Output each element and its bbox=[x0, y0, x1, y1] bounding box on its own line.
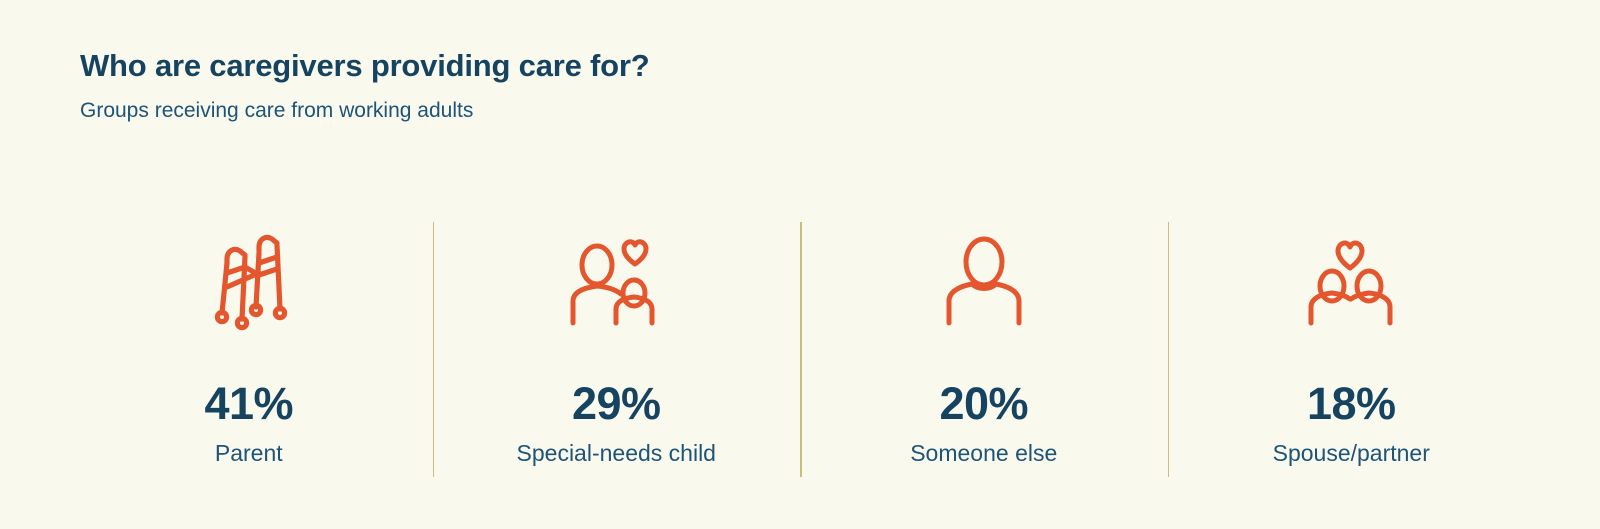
stat-label: Spouse/partner bbox=[1273, 440, 1430, 468]
stat-value: 20% bbox=[939, 381, 1028, 426]
adult-child-heart-icon bbox=[564, 221, 668, 341]
page-title: Who are caregivers providing care for? bbox=[80, 48, 1480, 84]
stat-item-special-needs-child: 29% Special-needs child bbox=[433, 213, 801, 488]
page-subtitle: Groups receiving care from working adult… bbox=[80, 98, 1480, 123]
stat-label: Parent bbox=[215, 440, 283, 468]
stat-value: 18% bbox=[1307, 381, 1396, 426]
stat-value: 41% bbox=[204, 381, 293, 426]
couple-heart-icon bbox=[1299, 221, 1403, 341]
stat-label: Someone else bbox=[910, 440, 1057, 468]
header: Who are caregivers providing care for? G… bbox=[80, 48, 1480, 123]
stat-value: 29% bbox=[572, 381, 661, 426]
stats-row: 41% Parent 29% Special-needs child bbox=[65, 213, 1535, 488]
stat-item-someone-else: 20% Someone else bbox=[800, 213, 1168, 488]
person-icon bbox=[937, 221, 1031, 341]
stat-item-spouse-partner: 18% Spouse/partner bbox=[1168, 213, 1536, 488]
stat-label: Special-needs child bbox=[517, 440, 716, 468]
stat-item-parent: 41% Parent bbox=[65, 213, 433, 488]
infographic-panel: Who are caregivers providing care for? G… bbox=[0, 0, 1600, 529]
walker-icon bbox=[201, 221, 297, 341]
